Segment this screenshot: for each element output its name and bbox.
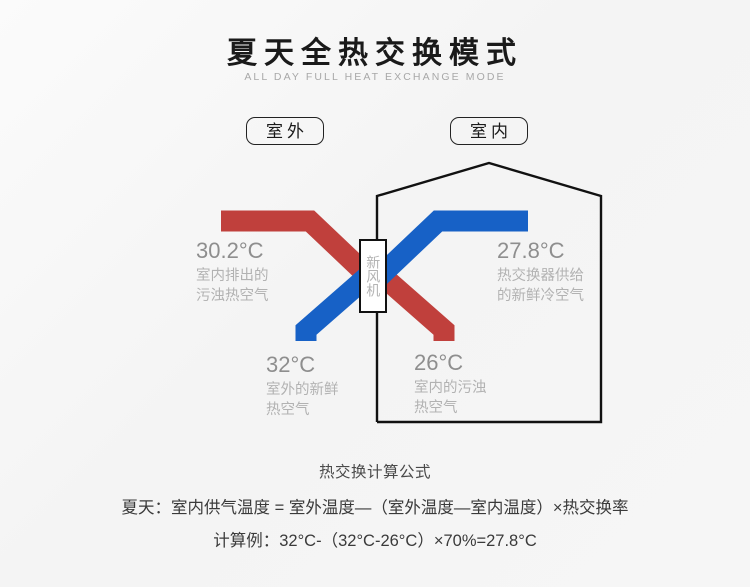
- callout-temperature: 30.2°C: [196, 238, 269, 265]
- callout-temperature: 27.8°C: [497, 238, 584, 265]
- callout-description-line-2: 污浊热空气: [196, 286, 269, 307]
- infographic-canvas: 夏天全热交换模式 ALL DAY FULL HEAT EXCHANGE MODE…: [0, 0, 750, 587]
- callout-description-line-2: 的新鲜冷空气: [497, 286, 584, 307]
- fresh-air-unit-box: 新风机: [359, 239, 387, 313]
- callout-description-line-1: 室内的污浊: [414, 378, 487, 399]
- callout-description-line-1: 室内排出的: [196, 266, 269, 287]
- callout-exhaust-out: 30.2°C 室内排出的 污浊热空气: [196, 238, 269, 307]
- callout-description-line-2: 热空气: [266, 400, 339, 421]
- fresh-air-unit-label: 新风机: [366, 255, 380, 297]
- callout-description-line-1: 热交换器供给: [497, 266, 584, 287]
- callout-temperature: 32°C: [266, 352, 339, 379]
- formula-line-1: 夏天：室内供气温度 = 室外温度—（室外温度—室内温度）×热交换率: [0, 494, 750, 518]
- formula-line-2: 计算例：32°C-（32°C-26°C）×70%=27.8°C: [0, 527, 750, 551]
- callout-supply-in: 27.8°C 热交换器供给 的新鲜冷空气: [497, 238, 584, 307]
- callout-description-line-1: 室外的新鲜: [266, 380, 339, 401]
- callout-description-line-2: 热空气: [414, 398, 487, 419]
- callout-return-in: 26°C 室内的污浊 热空气: [414, 350, 487, 419]
- callout-fresh-out: 32°C 室外的新鲜 热空气: [266, 352, 339, 421]
- callout-temperature: 26°C: [414, 350, 487, 377]
- formula-title: 热交换计算公式: [0, 460, 750, 482]
